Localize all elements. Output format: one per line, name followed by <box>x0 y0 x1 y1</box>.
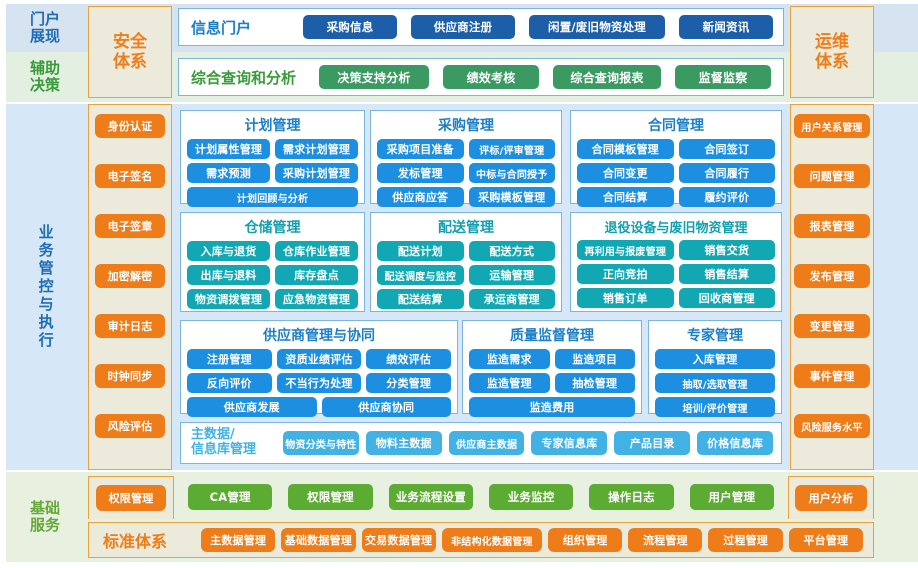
pill-decision-3[interactable]: 监督监察 <box>675 65 771 89</box>
pill-standard-6[interactable]: 过程管理 <box>708 528 782 552</box>
pill-ops-5[interactable]: 事件管理 <box>794 364 870 388</box>
card-row: 供应商发展供应商协同 <box>187 397 451 417</box>
pill-4-2-0[interactable]: 配送结算 <box>377 289 464 309</box>
pill-4-1-1[interactable]: 运输管理 <box>469 265 556 285</box>
pill-6-0-0[interactable]: 注册管理 <box>187 349 272 369</box>
pill-0-1-1[interactable]: 采购计划管理 <box>275 163 358 183</box>
security-system-title: 安全 体系 <box>89 32 171 73</box>
security-base-cell: 权限管理 <box>88 476 174 519</box>
security-items-panel: 身份认证电子签名电子签章加密解密审计日志时钟同步风险评估 <box>88 104 172 470</box>
architecture-diagram: 门户 展现 辅助 决策 业务管控与执行 基础 服务 安全 体系 身份认证电子签名… <box>0 0 918 568</box>
card-row: 发标管理中标与合同授予 <box>377 163 555 183</box>
pill-5-2-0[interactable]: 销售订单 <box>577 288 674 308</box>
card-row: 注册管理资质业绩评估绩效评估 <box>187 349 451 369</box>
layer-label-business: 业务管控与执行 <box>6 104 84 470</box>
pill-portal-3[interactable]: 新闻资讯 <box>679 15 773 39</box>
pill-1-0-0[interactable]: 采购项目准备 <box>377 139 464 159</box>
pill-baseservice-0[interactable]: CA管理 <box>188 484 272 510</box>
base-service-row: 权限管理 CA管理权限管理业务流程设置业务监控操作日志用户管理 用户分析 <box>88 476 874 518</box>
pill-security-0[interactable]: 身份认证 <box>95 114 165 138</box>
pill-decision-2[interactable]: 综合查询报表 <box>553 65 661 89</box>
pill-2-2-0[interactable]: 合同结算 <box>577 187 674 207</box>
card-retired-equipment-management: 退役设备与废旧物资管理再利用与报废管理销售交货正向竞拍销售结算销售订单回收商管理 <box>570 212 782 312</box>
layer-label-portal: 门户 展现 <box>6 4 84 52</box>
pill-ops-3[interactable]: 发布管理 <box>794 264 870 288</box>
pill-2-0-0[interactable]: 合同模板管理 <box>577 139 674 159</box>
card-row: 合同模板管理合同签订 <box>577 139 775 159</box>
ops-items-panel: 用户关系管理问题管理报表管理发布管理变更管理事件管理风险服务水平 <box>790 104 874 470</box>
card-row: 再利用与报废管理销售交货 <box>577 240 775 260</box>
card-row: 监造需求监造项目 <box>469 349 635 369</box>
pill-3-2-1[interactable]: 应急物资管理 <box>275 289 358 309</box>
pill-0-0-1[interactable]: 需求计划管理 <box>275 139 358 159</box>
pill-standard-2[interactable]: 交易数据管理 <box>362 528 436 552</box>
layer-label-base: 基础 服务 <box>6 472 84 562</box>
pill-0-0-0[interactable]: 计划属性管理 <box>187 139 270 159</box>
card-title: 配送管理 <box>438 217 494 237</box>
pill-security-4[interactable]: 审计日志 <box>95 314 165 338</box>
pill-3-0-0[interactable]: 入库与退货 <box>187 241 270 261</box>
pill-standard-0[interactable]: 主数据管理 <box>201 528 275 552</box>
pill-baseservice-3[interactable]: 业务监控 <box>489 484 573 510</box>
pill-baseservice-5[interactable]: 用户管理 <box>690 484 774 510</box>
pill-2-1-1[interactable]: 合同履行 <box>679 163 776 183</box>
pill-8-0-0[interactable]: 入库管理 <box>655 349 775 369</box>
pill-7-2-0[interactable]: 监造费用 <box>469 397 635 417</box>
card-title: 质量监督管理 <box>510 325 594 345</box>
pill-1-0-1[interactable]: 评标/评审管理 <box>469 139 556 159</box>
card-row: 培训/评价管理 <box>655 397 775 417</box>
pill-standard-4[interactable]: 组织管理 <box>548 528 622 552</box>
pill-3-2-0[interactable]: 物资调拨管理 <box>187 289 270 309</box>
pill-7-0-1[interactable]: 监造项目 <box>555 349 636 369</box>
pill-6-2-0[interactable]: 供应商发展 <box>187 397 317 417</box>
pill-6-1-0[interactable]: 反向评价 <box>187 373 272 393</box>
pill-5-0-0[interactable]: 再利用与报废管理 <box>577 240 674 260</box>
ops-system-panel: 运维 体系 <box>790 6 874 98</box>
card-row: 监造管理抽检管理 <box>469 373 635 393</box>
pill-security-2[interactable]: 电子签章 <box>95 214 165 238</box>
card-warehouse-management: 仓储管理入库与退货仓库作业管理出库与退料库存盘点物资调拨管理应急物资管理 <box>180 212 365 312</box>
pill-permission-management[interactable]: 权限管理 <box>96 485 166 511</box>
decision-row-title: 综合查询和分析 <box>179 67 319 88</box>
pill-standard-7[interactable]: 平台管理 <box>789 528 863 552</box>
pill-6-2-1[interactable]: 供应商协同 <box>322 397 452 417</box>
pill-4-1-0[interactable]: 配送调度与监控 <box>377 265 464 285</box>
card-title: 计划管理 <box>245 115 301 135</box>
pill-5-2-1[interactable]: 回收商管理 <box>679 288 776 308</box>
pill-3-1-1[interactable]: 库存盘点 <box>275 265 358 285</box>
pill-security-1[interactable]: 电子签名 <box>95 164 165 188</box>
layer-label-decision: 辅助 决策 <box>6 52 84 102</box>
pill-masterdata-0[interactable]: 物资分类与特性 <box>283 431 359 455</box>
pill-3-1-0[interactable]: 出库与退料 <box>187 265 270 285</box>
card-title: 退役设备与废旧物资管理 <box>604 217 747 236</box>
pill-ops-1[interactable]: 问题管理 <box>794 164 870 188</box>
pill-security-5[interactable]: 时钟同步 <box>95 364 165 388</box>
pill-6-1-2[interactable]: 分类管理 <box>366 373 451 393</box>
card-row: 入库与退货仓库作业管理 <box>187 241 358 261</box>
pill-masterdata-5[interactable]: 价格信息库 <box>697 431 773 455</box>
card-quality-supervision: 质量监督管理监造需求监造项目监造管理抽检管理监造费用 <box>462 320 642 414</box>
card-row: 计划回顾与分析 <box>187 187 358 207</box>
pill-masterdata-1[interactable]: 物料主数据 <box>366 431 442 455</box>
pill-1-1-0[interactable]: 发标管理 <box>377 163 464 183</box>
pill-standard-1[interactable]: 基础数据管理 <box>281 528 355 552</box>
pill-security-3[interactable]: 加密解密 <box>95 264 165 288</box>
pill-2-2-1[interactable]: 履约评价 <box>679 187 776 207</box>
card-row: 合同变更合同履行 <box>577 163 775 183</box>
card-title: 专家管理 <box>687 325 743 345</box>
pill-decision-1[interactable]: 绩效考核 <box>443 65 539 89</box>
ops-system-title: 运维 体系 <box>791 32 873 73</box>
pill-masterdata-4[interactable]: 产品目录 <box>614 431 690 455</box>
card-supplier-management: 供应商管理与协同注册管理资质业绩评估绩效评估反向评价不当行为处理分类管理供应商发… <box>180 320 458 414</box>
pill-portal-2[interactable]: 闲置/废旧物资处理 <box>529 15 665 39</box>
pill-7-0-0[interactable]: 监造需求 <box>469 349 550 369</box>
card-procurement-management: 采购管理采购项目准备评标/评审管理发标管理中标与合同授予供应商应答采购模板管理 <box>370 110 562 204</box>
pill-5-1-1[interactable]: 销售结算 <box>679 264 776 284</box>
pill-ops-4[interactable]: 变更管理 <box>794 314 870 338</box>
pill-user-analysis[interactable]: 用户分析 <box>795 485 867 511</box>
pill-1-1-1[interactable]: 中标与合同授予 <box>469 163 556 183</box>
card-row: 出库与退料库存盘点 <box>187 265 358 285</box>
card-row: 反向评价不当行为处理分类管理 <box>187 373 451 393</box>
card-delivery-management: 配送管理配送计划配送方式配送调度与监控运输管理配送结算承运商管理 <box>370 212 562 312</box>
pill-baseservice-2[interactable]: 业务流程设置 <box>389 484 473 510</box>
card-title: 采购管理 <box>438 115 494 135</box>
pill-baseservice-4[interactable]: 操作日志 <box>589 484 673 510</box>
pill-6-0-1[interactable]: 资质业绩评估 <box>277 349 362 369</box>
standard-system-title: 标准体系 <box>89 528 201 552</box>
pill-8-1-0[interactable]: 抽取/选取管理 <box>655 373 775 393</box>
pill-ops-2[interactable]: 报表管理 <box>794 214 870 238</box>
portal-row: 信息门户 采购信息供应商注册闲置/废旧物资处理新闻资讯 <box>178 8 784 46</box>
pill-baseservice-1[interactable]: 权限管理 <box>288 484 372 510</box>
pill-standard-3[interactable]: 非结构化数据管理 <box>442 528 542 552</box>
card-title: 合同管理 <box>648 115 704 135</box>
card-row: 计划属性管理需求计划管理 <box>187 139 358 159</box>
portal-row-title: 信息门户 <box>179 17 303 38</box>
card-row: 配送计划配送方式 <box>377 241 555 261</box>
decision-row: 综合查询和分析 决策支持分析绩效考核综合查询报表监督监察 <box>178 58 784 96</box>
pill-3-0-1[interactable]: 仓库作业管理 <box>275 241 358 261</box>
pill-7-1-0[interactable]: 监造管理 <box>469 373 550 393</box>
pill-ops-6[interactable]: 风险服务水平 <box>794 414 870 438</box>
card-row: 抽取/选取管理 <box>655 373 775 393</box>
pill-6-1-1[interactable]: 不当行为处理 <box>277 373 362 393</box>
pill-0-1-0[interactable]: 需求预测 <box>187 163 270 183</box>
standard-system-row: 标准体系 主数据管理基础数据管理交易数据管理非结构化数据管理组织管理流程管理过程… <box>88 522 874 558</box>
card-row: 销售订单回收商管理 <box>577 288 775 308</box>
pill-masterdata-3[interactable]: 专家信息库 <box>531 431 607 455</box>
card-contract-management: 合同管理合同模板管理合同签订合同变更合同履行合同结算履约评价 <box>570 110 782 204</box>
pill-2-0-1[interactable]: 合同签订 <box>679 139 776 159</box>
pill-portal-1[interactable]: 供应商注册 <box>411 15 515 39</box>
pill-8-2-0[interactable]: 培训/评价管理 <box>655 397 775 417</box>
security-system-panel: 安全 体系 <box>88 6 172 98</box>
pill-2-1-0[interactable]: 合同变更 <box>577 163 674 183</box>
ops-base-cell: 用户分析 <box>788 476 874 519</box>
card-row: 供应商应答采购模板管理 <box>377 187 555 207</box>
card-row: 监造费用 <box>469 397 635 417</box>
card-row: 配送结算承运商管理 <box>377 289 555 309</box>
card-row: 正向竞拍销售结算 <box>577 264 775 284</box>
master-data-row: 主数据/ 信息库管理 物资分类与特性物料主数据供应商主数据专家信息库产品目录价格… <box>180 422 782 464</box>
pill-masterdata-2[interactable]: 供应商主数据 <box>449 431 525 455</box>
card-row: 入库管理 <box>655 349 775 369</box>
pill-5-1-0[interactable]: 正向竞拍 <box>577 264 674 284</box>
pill-0-2-0[interactable]: 计划回顾与分析 <box>187 187 358 207</box>
pill-6-0-2[interactable]: 绩效评估 <box>366 349 451 369</box>
pill-1-2-1[interactable]: 采购模板管理 <box>469 187 556 207</box>
card-expert-management: 专家管理入库管理抽取/选取管理培训/评价管理 <box>648 320 782 414</box>
card-title: 仓储管理 <box>245 217 301 237</box>
card-row: 物资调拨管理应急物资管理 <box>187 289 358 309</box>
card-row: 采购项目准备评标/评审管理 <box>377 139 555 159</box>
pill-4-0-1[interactable]: 配送方式 <box>469 241 556 261</box>
pill-5-0-1[interactable]: 销售交货 <box>679 240 776 260</box>
pill-portal-0[interactable]: 采购信息 <box>303 15 397 39</box>
card-row: 需求预测采购计划管理 <box>187 163 358 183</box>
pill-standard-5[interactable]: 流程管理 <box>628 528 702 552</box>
pill-ops-0[interactable]: 用户关系管理 <box>794 114 870 138</box>
pill-security-6[interactable]: 风险评估 <box>95 414 165 438</box>
card-row: 配送调度与监控运输管理 <box>377 265 555 285</box>
pill-4-2-1[interactable]: 承运商管理 <box>469 289 556 309</box>
pill-decision-0[interactable]: 决策支持分析 <box>319 65 429 89</box>
pill-4-0-0[interactable]: 配送计划 <box>377 241 464 261</box>
card-plan-management: 计划管理计划属性管理需求计划管理需求预测采购计划管理计划回顾与分析 <box>180 110 365 204</box>
master-data-label: 主数据/ 信息库管理 <box>181 428 283 458</box>
pill-1-2-0[interactable]: 供应商应答 <box>377 187 464 207</box>
pill-7-1-1[interactable]: 抽检管理 <box>555 373 636 393</box>
card-row: 合同结算履约评价 <box>577 187 775 207</box>
card-title: 供应商管理与协同 <box>263 325 375 345</box>
